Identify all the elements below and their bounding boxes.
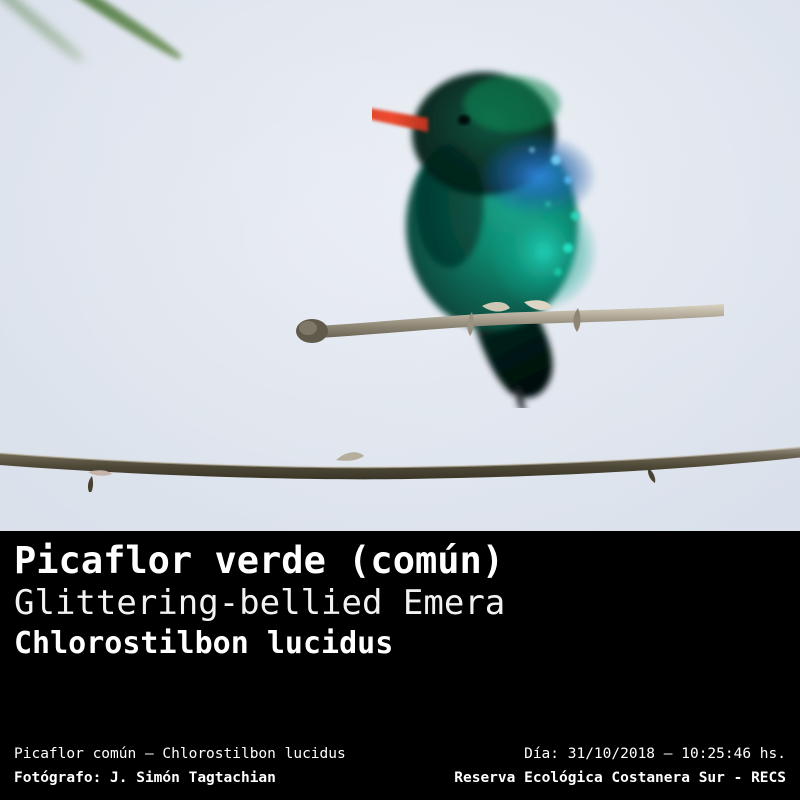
hummingbird-illustration: [372, 56, 608, 408]
footer-left: Picaflor común — Chlorostilbon lucidus F…: [14, 742, 346, 790]
bird-photograph: [0, 0, 800, 531]
lower-branch-icon: [0, 446, 800, 492]
common-name-spanish: Picaflor verde (común): [14, 539, 654, 582]
footer-photographer-line: Fotógrafo: J. Simón Tagtachian: [14, 766, 346, 790]
perch-branch-icon: [296, 300, 726, 344]
species-title-block: Picaflor verde (común) Glittering-bellie…: [14, 539, 654, 664]
footer-location-line: Reserva Ecológica Costanera Sur - RECS: [454, 766, 786, 790]
footer-right: Día: 31/10/2018 — 10:25:46 hs. Reserva E…: [454, 742, 786, 790]
footer-datetime-line: Día: 31/10/2018 — 10:25:46 hs.: [454, 742, 786, 766]
photo-card: Picaflor verde (común) Glittering-bellie…: [0, 0, 800, 800]
footer-species-line: Picaflor común — Chlorostilbon lucidus: [14, 742, 346, 766]
footer-bar: Picaflor común — Chlorostilbon lucidus F…: [0, 742, 800, 800]
scientific-name: Chlorostilbon lucidus: [14, 624, 654, 664]
common-name-english: Glittering-bellied Emera: [14, 582, 654, 624]
